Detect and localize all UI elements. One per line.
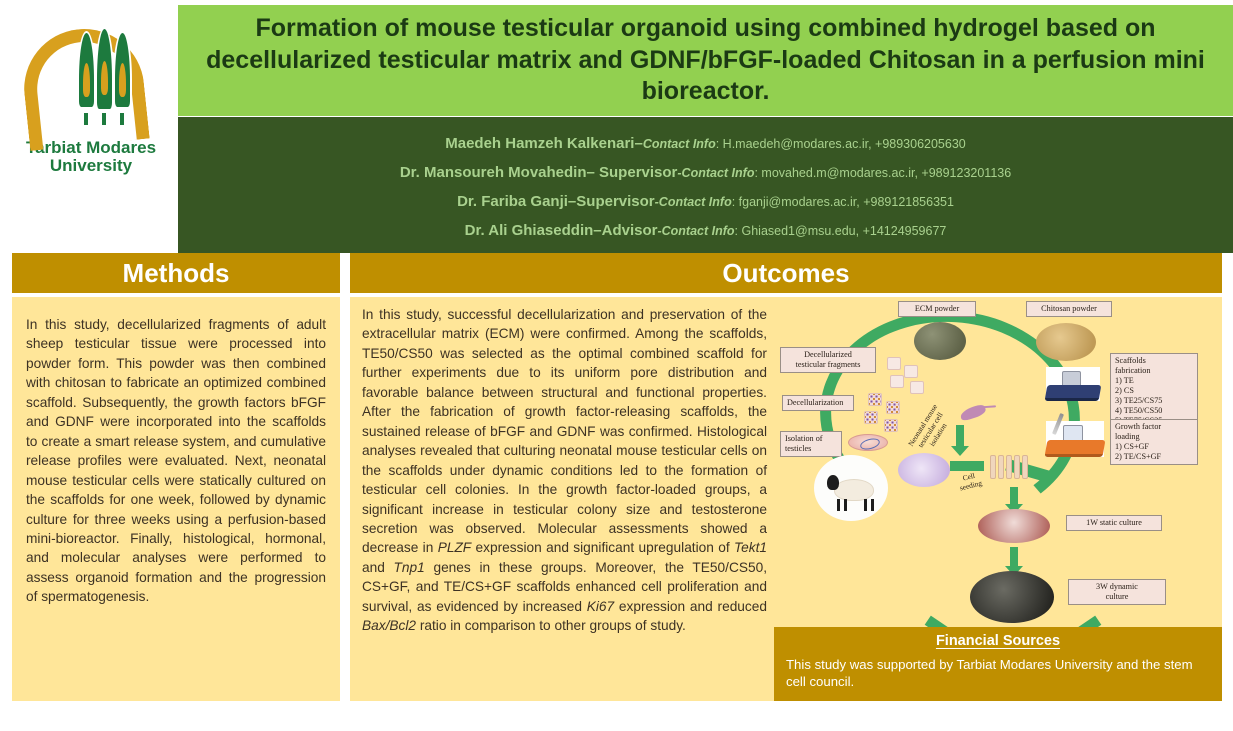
financial-sources-box: Financial Sources This study was support… — [774, 627, 1222, 701]
author-contact-label: Contact Info — [643, 137, 716, 151]
photo-scaffold-machine — [1046, 367, 1100, 401]
label-dynamic-culture: 3W dynamic culture — [1068, 579, 1166, 605]
gf-item: 1) CS+GF — [1115, 442, 1193, 452]
poster-title-bar: Formation of mouse testicular organoid u… — [178, 5, 1233, 116]
author-contact-label: -Contact Info — [655, 195, 732, 209]
gf-item: 2) TE/CS+GF — [1115, 452, 1193, 462]
label-isolation-of-testicles: Isolation of testicles — [780, 431, 842, 457]
author-contact-details: : movahed.m@modares.ac.ir, +989123201136 — [754, 166, 1011, 180]
label-decellularization: Decellularization — [782, 395, 854, 411]
outcomes-heading: Outcomes — [722, 258, 849, 289]
scaffold-item: 4) TE50/CS50 — [1115, 406, 1193, 416]
author-contact-details: : fganji@modares.ac.ir, +989121856351 — [732, 195, 954, 209]
methods-header: Methods — [12, 253, 340, 293]
author-contact-details: : Ghiased1@msu.edu, +14124959677 — [735, 224, 947, 238]
arrow-to-dynamic-culture — [1010, 547, 1018, 567]
author-block: Maedeh Hamzeh Kalkenari–Contact Info: H.… — [178, 117, 1233, 253]
university-logo: Tarbiat Modares University — [6, 6, 176, 186]
methods-text: In this study, decellularized fragments … — [26, 315, 326, 607]
outcomes-text: In this study, successful decellularizat… — [362, 305, 767, 636]
scaffolds-title-1: Scaffolds — [1115, 356, 1193, 366]
outcomes-header: Outcomes — [350, 253, 1222, 293]
photo-scaffold-strips — [990, 455, 1028, 479]
scaffold-item: 1) TE — [1115, 376, 1193, 386]
author-contact-details: : H.maedeh@modares.ac.ir, +989306205630 — [716, 137, 966, 151]
label-decell-fragments: Decellularized testicular fragments — [780, 347, 876, 373]
author-name: Maedeh Hamzeh Kalkenari– — [445, 135, 643, 152]
arrow-mouse-to-cells — [956, 425, 964, 447]
poster-title: Formation of mouse testicular organoid u… — [196, 13, 1215, 108]
photo-ecm-powder — [914, 322, 966, 360]
label-ecm-powder: ECM powder — [898, 301, 976, 317]
author-name: Dr. Mansoureh Movahedin– Supervisor — [400, 164, 678, 181]
scaffold-item: 2) CS — [1115, 386, 1193, 396]
label-static-culture: 1W static culture — [1066, 515, 1162, 531]
label-growth-factor-loading: Growth factor loading 1) CS+GF 2) TE/CS+… — [1110, 419, 1198, 465]
photo-bioreactor — [970, 571, 1054, 623]
author-line: Dr. Mansoureh Movahedin– Supervisor-Cont… — [400, 164, 1011, 181]
outcomes-panel: In this study, successful decellularizat… — [350, 297, 1222, 701]
label-scaffolds-fabrication: Scaffolds fabrication 1) TE 2) CS 3) TE2… — [1110, 353, 1198, 429]
photo-gf-loading-machine — [1046, 421, 1104, 457]
logo-line-2: University — [26, 157, 156, 175]
poster-root: Tarbiat Modares University Formation of … — [0, 0, 1233, 731]
scaffold-item: 3) TE25/CS75 — [1115, 396, 1193, 406]
author-line: Maedeh Hamzeh Kalkenari–Contact Info: H.… — [445, 135, 966, 152]
financial-text: This study was supported by Tarbiat Moda… — [786, 656, 1210, 690]
gf-title-1: Growth factor — [1115, 422, 1193, 432]
photo-culture-plate — [978, 509, 1050, 543]
methods-panel: In this study, decellularized fragments … — [12, 297, 340, 701]
label-chitosan-powder: Chitosan powder — [1026, 301, 1112, 317]
author-contact-label: -Contact Info — [657, 224, 734, 238]
photo-chitosan-powder — [1036, 323, 1096, 361]
photo-isolated-cells — [898, 453, 950, 487]
author-line: Dr. Ali Ghiaseddin–Advisor-Contact Info:… — [465, 222, 947, 239]
arrow-to-static-culture — [1010, 487, 1018, 505]
author-line: Dr. Fariba Ganji–Supervisor-Contact Info… — [457, 193, 954, 210]
author-name: Dr. Ali Ghiaseddin–Advisor — [465, 222, 658, 239]
financial-heading: Financial Sources — [786, 633, 1210, 649]
author-name: Dr. Fariba Ganji–Supervisor — [457, 193, 655, 210]
scaffolds-title-2: fabrication — [1115, 366, 1193, 376]
photo-sheep — [814, 455, 888, 521]
arrow-cell-seeding — [950, 461, 984, 471]
photo-testis — [848, 434, 888, 451]
author-contact-label: -Contact Info — [677, 166, 754, 180]
wheat-arch-icon — [16, 17, 166, 137]
gf-title-2: loading — [1115, 432, 1193, 442]
methods-heading: Methods — [123, 258, 230, 289]
